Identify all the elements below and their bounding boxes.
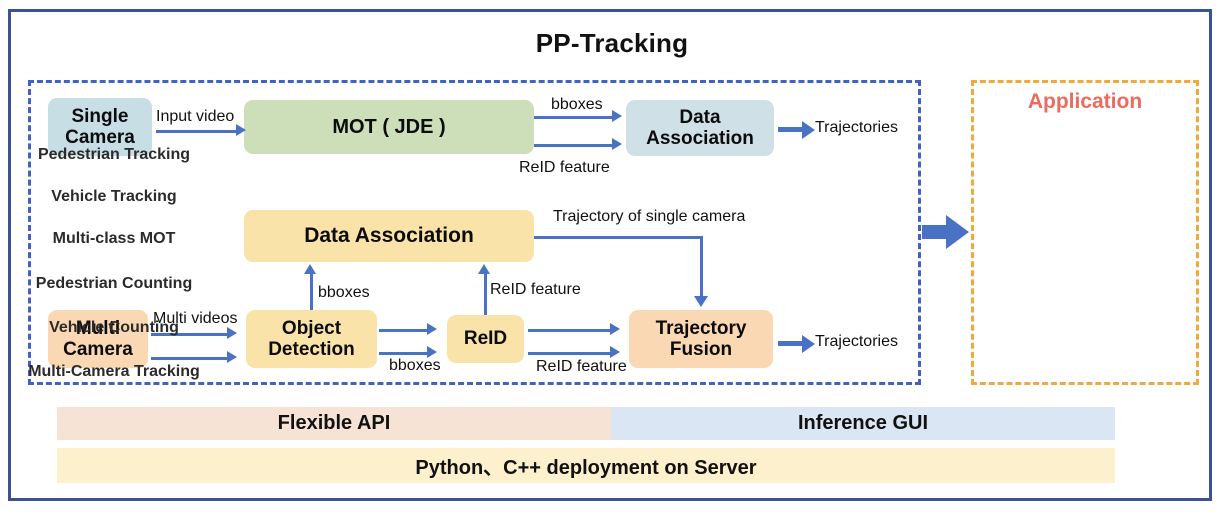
application-item-vehicle-tracking[interactable]: Vehicle Tracking <box>0 188 228 206</box>
node-single-camera-label: Single Camera <box>65 106 135 149</box>
arrowhead-detection-to-reid-1 <box>427 323 437 335</box>
arrowhead-detection-to-data-association <box>304 264 316 274</box>
arrowhead-mot-reid-feature <box>612 138 622 150</box>
diagram-root: PP-Tracking Single Camera MOT ( JDE ) Da… <box>0 0 1224 514</box>
arrowhead-reid-to-fusion-2 <box>610 346 620 358</box>
arrowhead-single-camera-to-mot <box>236 124 246 136</box>
edge-reid-to-fusion-2 <box>528 352 612 355</box>
edge-label-input-video: Input video <box>156 108 234 126</box>
bar-deployment[interactable]: Python、C++ deployment on Server <box>57 448 1115 483</box>
application-item-vehicle-counting[interactable]: Vehicle Counting <box>0 319 228 337</box>
node-mot-jde[interactable]: MOT ( JDE ) <box>244 100 534 154</box>
bar-flexible-api-label: Flexible API <box>278 412 391 435</box>
node-reid[interactable]: ReID <box>447 315 524 363</box>
node-object-detection[interactable]: Object Detection <box>246 310 377 368</box>
edge-detection-to-data-association <box>310 272 313 310</box>
edge-mot-reid-feature <box>534 144 614 147</box>
edge-reid-to-fusion-1 <box>528 329 612 332</box>
node-object-detection-label: Object Detection <box>268 318 355 361</box>
node-data-association-single[interactable]: Data Association <box>626 100 774 156</box>
application-title: Application <box>971 90 1199 114</box>
bar-deployment-label: Python、C++ deployment on Server <box>415 451 756 480</box>
edge-label-bboxes-to-data-association: bboxes <box>318 284 370 302</box>
edge-label-reid-feature-single: ReID feature <box>519 159 610 177</box>
arrowhead-multi-camera-to-detection-1 <box>227 327 237 339</box>
edge-detection-to-reid-2 <box>379 352 429 355</box>
application-container <box>971 80 1199 385</box>
edge-mot-bboxes <box>534 116 614 119</box>
node-data-association-multi[interactable]: Data Association <box>244 210 534 262</box>
node-trajectory-fusion[interactable]: Trajectory Fusion <box>629 310 773 368</box>
application-item-multi-class-mot[interactable]: Multi-class MOT <box>0 230 228 248</box>
edge-label-trajectory-of-single-camera: Trajectory of single camera <box>553 208 745 226</box>
arrowhead-multi-camera-to-detection-2 <box>227 351 237 363</box>
edge-data-association-to-fusion-horizontal <box>534 236 703 239</box>
application-item-pedestrian-tracking[interactable]: Pedestrian Tracking <box>0 146 228 164</box>
page-title: PP-Tracking <box>0 28 1224 59</box>
arrowhead-mot-bboxes <box>612 110 622 122</box>
node-reid-label: ReID <box>464 328 507 349</box>
application-item-pedestrian-counting[interactable]: Pedestrian Counting <box>0 275 228 293</box>
edge-data-association-to-fusion-vertical <box>700 236 703 298</box>
edge-label-bboxes-to-reid: bboxes <box>389 357 441 375</box>
edge-multi-camera-to-detection-2 <box>151 357 229 360</box>
arrowhead-reid-to-fusion-1 <box>610 323 620 335</box>
edge-label-reid-feature-to-fusion: ReID feature <box>536 358 627 376</box>
arrowhead-reid-to-data-association <box>478 264 490 274</box>
edge-label-bboxes-single: bboxes <box>551 96 603 114</box>
arrowhead-trajectories-single <box>802 121 815 139</box>
edge-label-trajectories-single: Trajectories <box>815 119 898 137</box>
node-mot-jde-label: MOT ( JDE ) <box>332 116 445 138</box>
bar-inference-gui[interactable]: Inference GUI <box>611 407 1115 440</box>
node-trajectory-fusion-label: Trajectory Fusion <box>656 318 747 361</box>
edge-label-trajectories-multi: Trajectories <box>815 333 898 351</box>
edge-single-camera-to-mot <box>156 130 238 133</box>
bar-flexible-api[interactable]: Flexible API <box>57 407 611 440</box>
arrowhead-trajectories-multi <box>802 335 815 353</box>
node-data-association-single-label: Data Association <box>646 107 754 150</box>
edge-label-reid-feature-to-data-association: ReID feature <box>490 281 581 299</box>
arrowhead-data-association-to-fusion <box>694 296 708 307</box>
pipeline-to-application-arrow <box>922 212 970 252</box>
bar-inference-gui-label: Inference GUI <box>798 412 928 435</box>
edge-detection-to-reid-1 <box>379 329 429 332</box>
node-data-association-multi-label: Data Association <box>304 224 474 248</box>
edge-reid-to-data-association <box>484 272 487 315</box>
application-item-multi-camera-tracking[interactable]: Multi-Camera Tracking <box>0 363 228 381</box>
